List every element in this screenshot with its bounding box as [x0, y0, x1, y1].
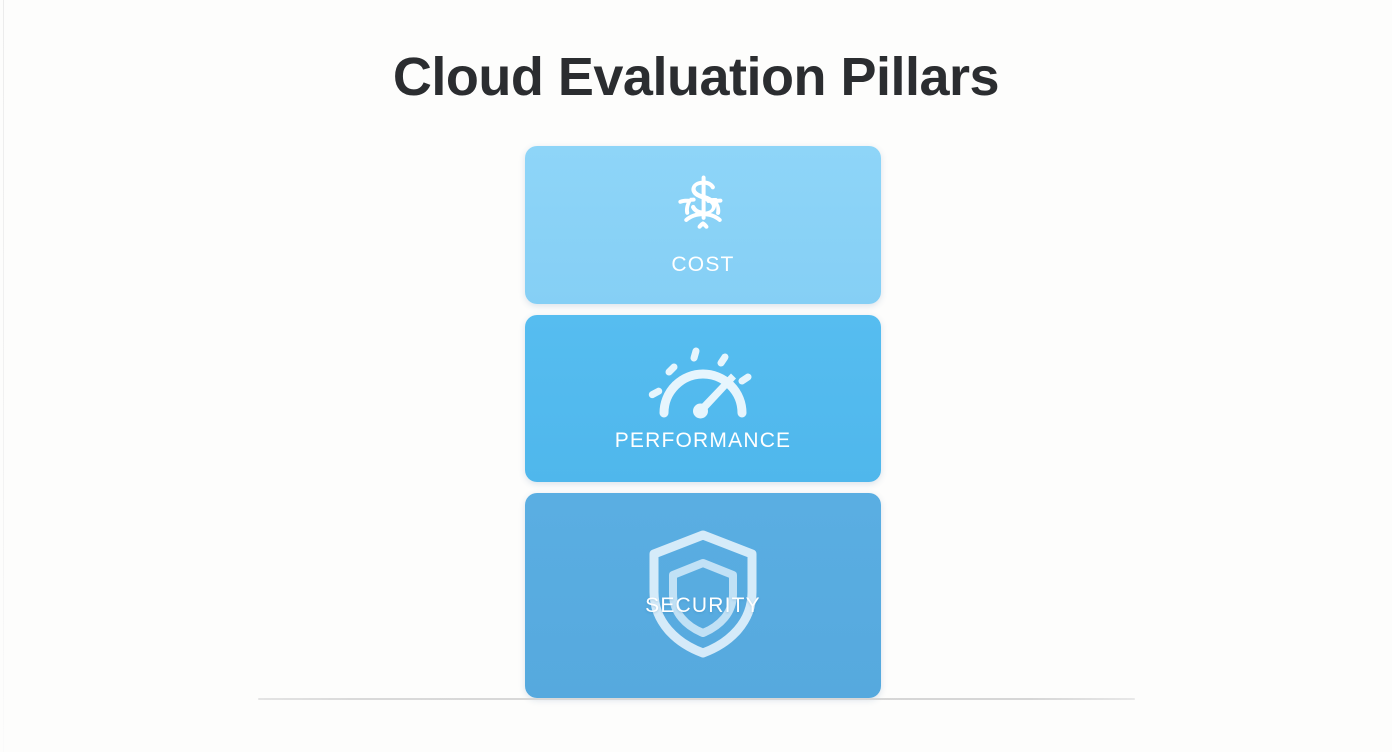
slide-canvas: Cloud Evaluation Pillars — [0, 0, 1392, 752]
pillar-label-performance: Performance — [615, 423, 792, 453]
left-edge-rule — [3, 0, 4, 752]
pillar-card-cost[interactable]: Cost — [525, 146, 881, 304]
pillar-label-security: Security — [525, 588, 881, 618]
pillar-card-performance[interactable]: Performance — [525, 315, 881, 482]
pillar-stack: Cost — [525, 146, 881, 698]
pillar-label-cost: Cost — [671, 247, 734, 277]
page-title: Cloud Evaluation Pillars — [0, 46, 1392, 108]
dollar-sign-icon — [667, 173, 739, 241]
baseline-rule — [258, 698, 1135, 700]
pillar-card-security[interactable]: Security — [525, 493, 881, 698]
speedometer-gauge-icon — [647, 345, 759, 419]
